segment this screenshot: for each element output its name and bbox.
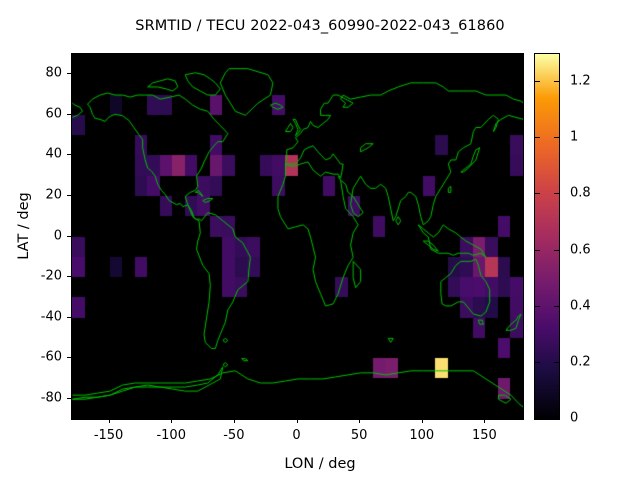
colorbar-tick-mark <box>554 137 559 138</box>
colorbar-tick-mark <box>554 81 559 82</box>
y-tick-mark <box>67 114 71 115</box>
y-tick-mark <box>67 317 71 318</box>
colorbar-tick-mark <box>554 418 559 419</box>
x-tick-label: 0 <box>292 428 300 443</box>
colorbar-tick-mark <box>535 362 540 363</box>
y-tick-label: -60 <box>0 350 62 365</box>
x-axis-label: LON / deg <box>0 456 640 472</box>
map-plot-area[interactable] <box>71 53 524 420</box>
colorbar-tick-mark <box>535 418 540 419</box>
page-title: SRMTID / TECU 2022-043_60990-2022-043_61… <box>0 18 640 34</box>
colorbar-tick-label: 0.4 <box>570 298 591 313</box>
figure-canvas: SRMTID / TECU 2022-043_60990-2022-043_61… <box>0 0 640 480</box>
y-tick-mark <box>67 73 71 74</box>
x-tick-label: 100 <box>409 428 434 443</box>
y-tick-mark <box>67 357 71 358</box>
colorbar[interactable] <box>534 53 560 420</box>
x-tick-mark <box>234 419 235 423</box>
x-tick-mark <box>422 419 423 423</box>
x-tick-mark <box>109 419 110 423</box>
colorbar-tick-mark <box>554 362 559 363</box>
x-tick-label: 50 <box>351 428 368 443</box>
x-tick-mark <box>484 419 485 423</box>
x-tick-mark <box>297 419 298 423</box>
y-tick-label: 60 <box>0 106 62 121</box>
y-tick-mark <box>67 276 71 277</box>
colorbar-tick-mark <box>535 193 540 194</box>
colorbar-tick-mark <box>535 306 540 307</box>
y-tick-mark <box>67 154 71 155</box>
y-tick-label: 80 <box>0 66 62 81</box>
colorbar-tick-label: 1.2 <box>570 74 591 89</box>
y-tick-mark <box>67 398 71 399</box>
y-axis-label: LAT / deg <box>16 156 32 296</box>
x-tick-mark <box>171 419 172 423</box>
x-tick-mark <box>359 419 360 423</box>
colorbar-tick-label: 0.6 <box>570 242 591 257</box>
y-tick-mark <box>67 195 71 196</box>
colorbar-tick-mark <box>554 193 559 194</box>
colorbar-tick-label: 0 <box>570 411 578 426</box>
y-tick-label: -80 <box>0 390 62 405</box>
x-tick-label: 150 <box>472 428 497 443</box>
y-tick-mark <box>67 236 71 237</box>
colorbar-tick-mark <box>535 137 540 138</box>
colorbar-tick-mark <box>554 306 559 307</box>
colorbar-tick-mark <box>535 81 540 82</box>
colorbar-tick-label: 0.8 <box>570 186 591 201</box>
colorbar-tick-label: 1 <box>570 130 578 145</box>
colorbar-tick-label: 0.2 <box>570 354 591 369</box>
y-tick-label: -40 <box>0 309 62 324</box>
colorbar-gradient <box>535 54 559 419</box>
x-tick-label: -50 <box>223 428 244 443</box>
x-tick-label: -100 <box>156 428 186 443</box>
colorbar-tick-mark <box>535 250 540 251</box>
heatmap-canvas[interactable] <box>72 54 523 419</box>
colorbar-tick-mark <box>554 250 559 251</box>
x-tick-label: -150 <box>94 428 124 443</box>
